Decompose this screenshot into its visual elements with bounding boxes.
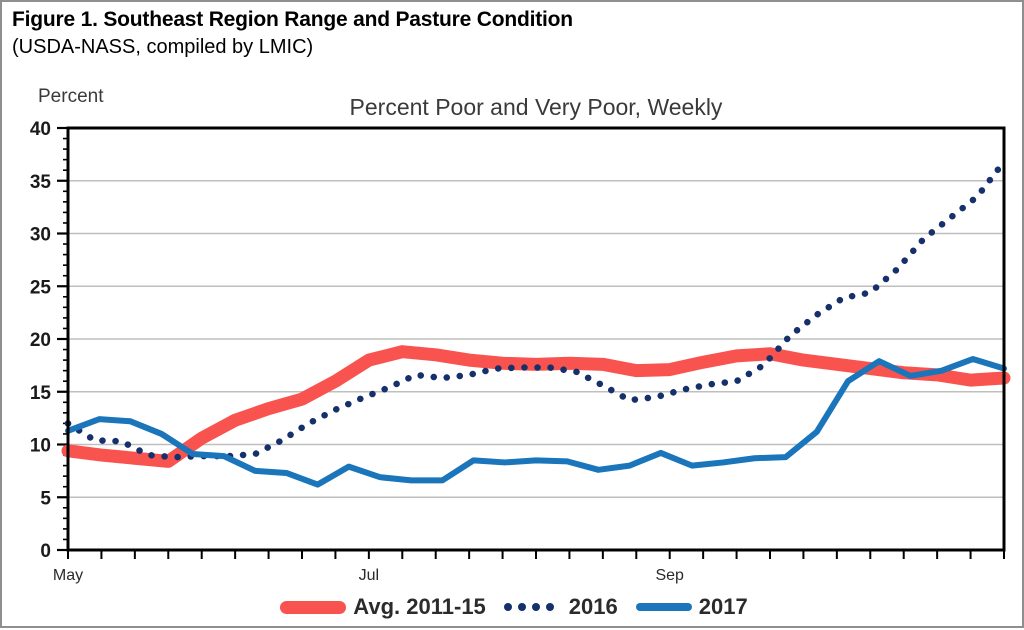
svg-text:Sep: Sep [655, 567, 684, 584]
legend-item-2016[interactable]: 2016 [504, 594, 618, 620]
chart-plot: 0510152025303540 MayJulSep [2, 2, 1024, 630]
legend-item-avg-2011-15[interactable]: Avg. 2011-15 [280, 594, 486, 620]
legend-dot [532, 603, 540, 611]
legend-item-2017[interactable]: 2017 [636, 594, 748, 620]
svg-text:5: 5 [40, 488, 51, 509]
svg-text:35: 35 [30, 172, 52, 193]
chart-legend: Avg. 2011-15 2016 2017 [2, 594, 1024, 620]
svg-text:0: 0 [40, 541, 51, 562]
series-2016 [68, 162, 1004, 457]
svg-text:20: 20 [30, 330, 51, 351]
figure-container: Figure 1. Southeast Region Range and Pas… [0, 0, 1024, 628]
legend-label-avg-2011-15: Avg. 2011-15 [353, 594, 486, 620]
y-tick-labels: 0510152025303540 [30, 119, 52, 562]
legend-swatch-2016 [504, 603, 562, 611]
svg-text:10: 10 [30, 436, 51, 457]
legend-swatch-avg-2011-15 [280, 601, 346, 614]
svg-text:May: May [53, 567, 83, 584]
legend-label-2016: 2016 [569, 594, 618, 620]
svg-text:15: 15 [30, 383, 52, 404]
series-2017 [68, 359, 1004, 485]
legend-swatch-2017 [636, 603, 692, 611]
legend-dot [518, 603, 526, 611]
legend-dot [504, 603, 512, 611]
x-tick-labels: MayJulSep [53, 567, 684, 584]
svg-text:40: 40 [30, 119, 51, 140]
svg-text:30: 30 [30, 225, 51, 246]
legend-dot [546, 603, 554, 611]
svg-text:Jul: Jul [359, 567, 379, 584]
legend-label-2017: 2017 [699, 594, 748, 620]
svg-text:25: 25 [30, 277, 52, 298]
